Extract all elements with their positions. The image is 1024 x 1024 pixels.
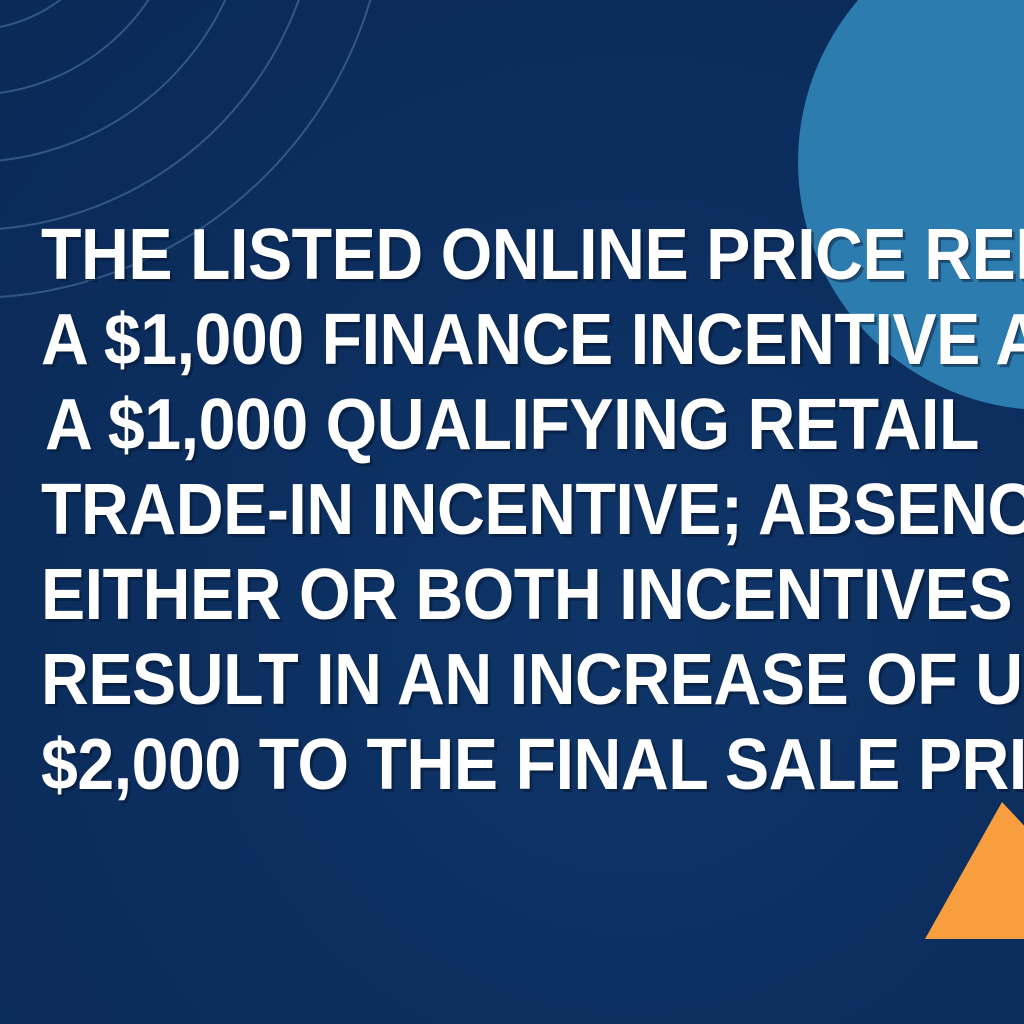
headline-line-5: EITHER OR BOTH INCENTIVES WILL (41, 553, 983, 638)
headline-line-4: TRADE-IN INCENTIVE; ABSENCE OF (41, 468, 983, 553)
headline-line-6: RESULT IN AN INCREASE OF UP TO (41, 638, 983, 723)
orange-triangle-shape (925, 802, 1024, 939)
disclaimer-headline: THE LISTED ONLINE PRICE REFLECTS A $1,00… (41, 213, 983, 808)
headline-line-2: A $1,000 FINANCE INCENTIVE AND (41, 298, 983, 383)
headline-line-3: A $1,000 QUALIFYING RETAIL (41, 383, 983, 468)
headline-line-1: THE LISTED ONLINE PRICE REFLECTS (41, 213, 983, 298)
promo-graphic-canvas: THE LISTED ONLINE PRICE REFLECTS A $1,00… (0, 0, 1024, 1024)
headline-line-7: $2,000 TO THE FINAL SALE PRICE. (41, 723, 983, 808)
